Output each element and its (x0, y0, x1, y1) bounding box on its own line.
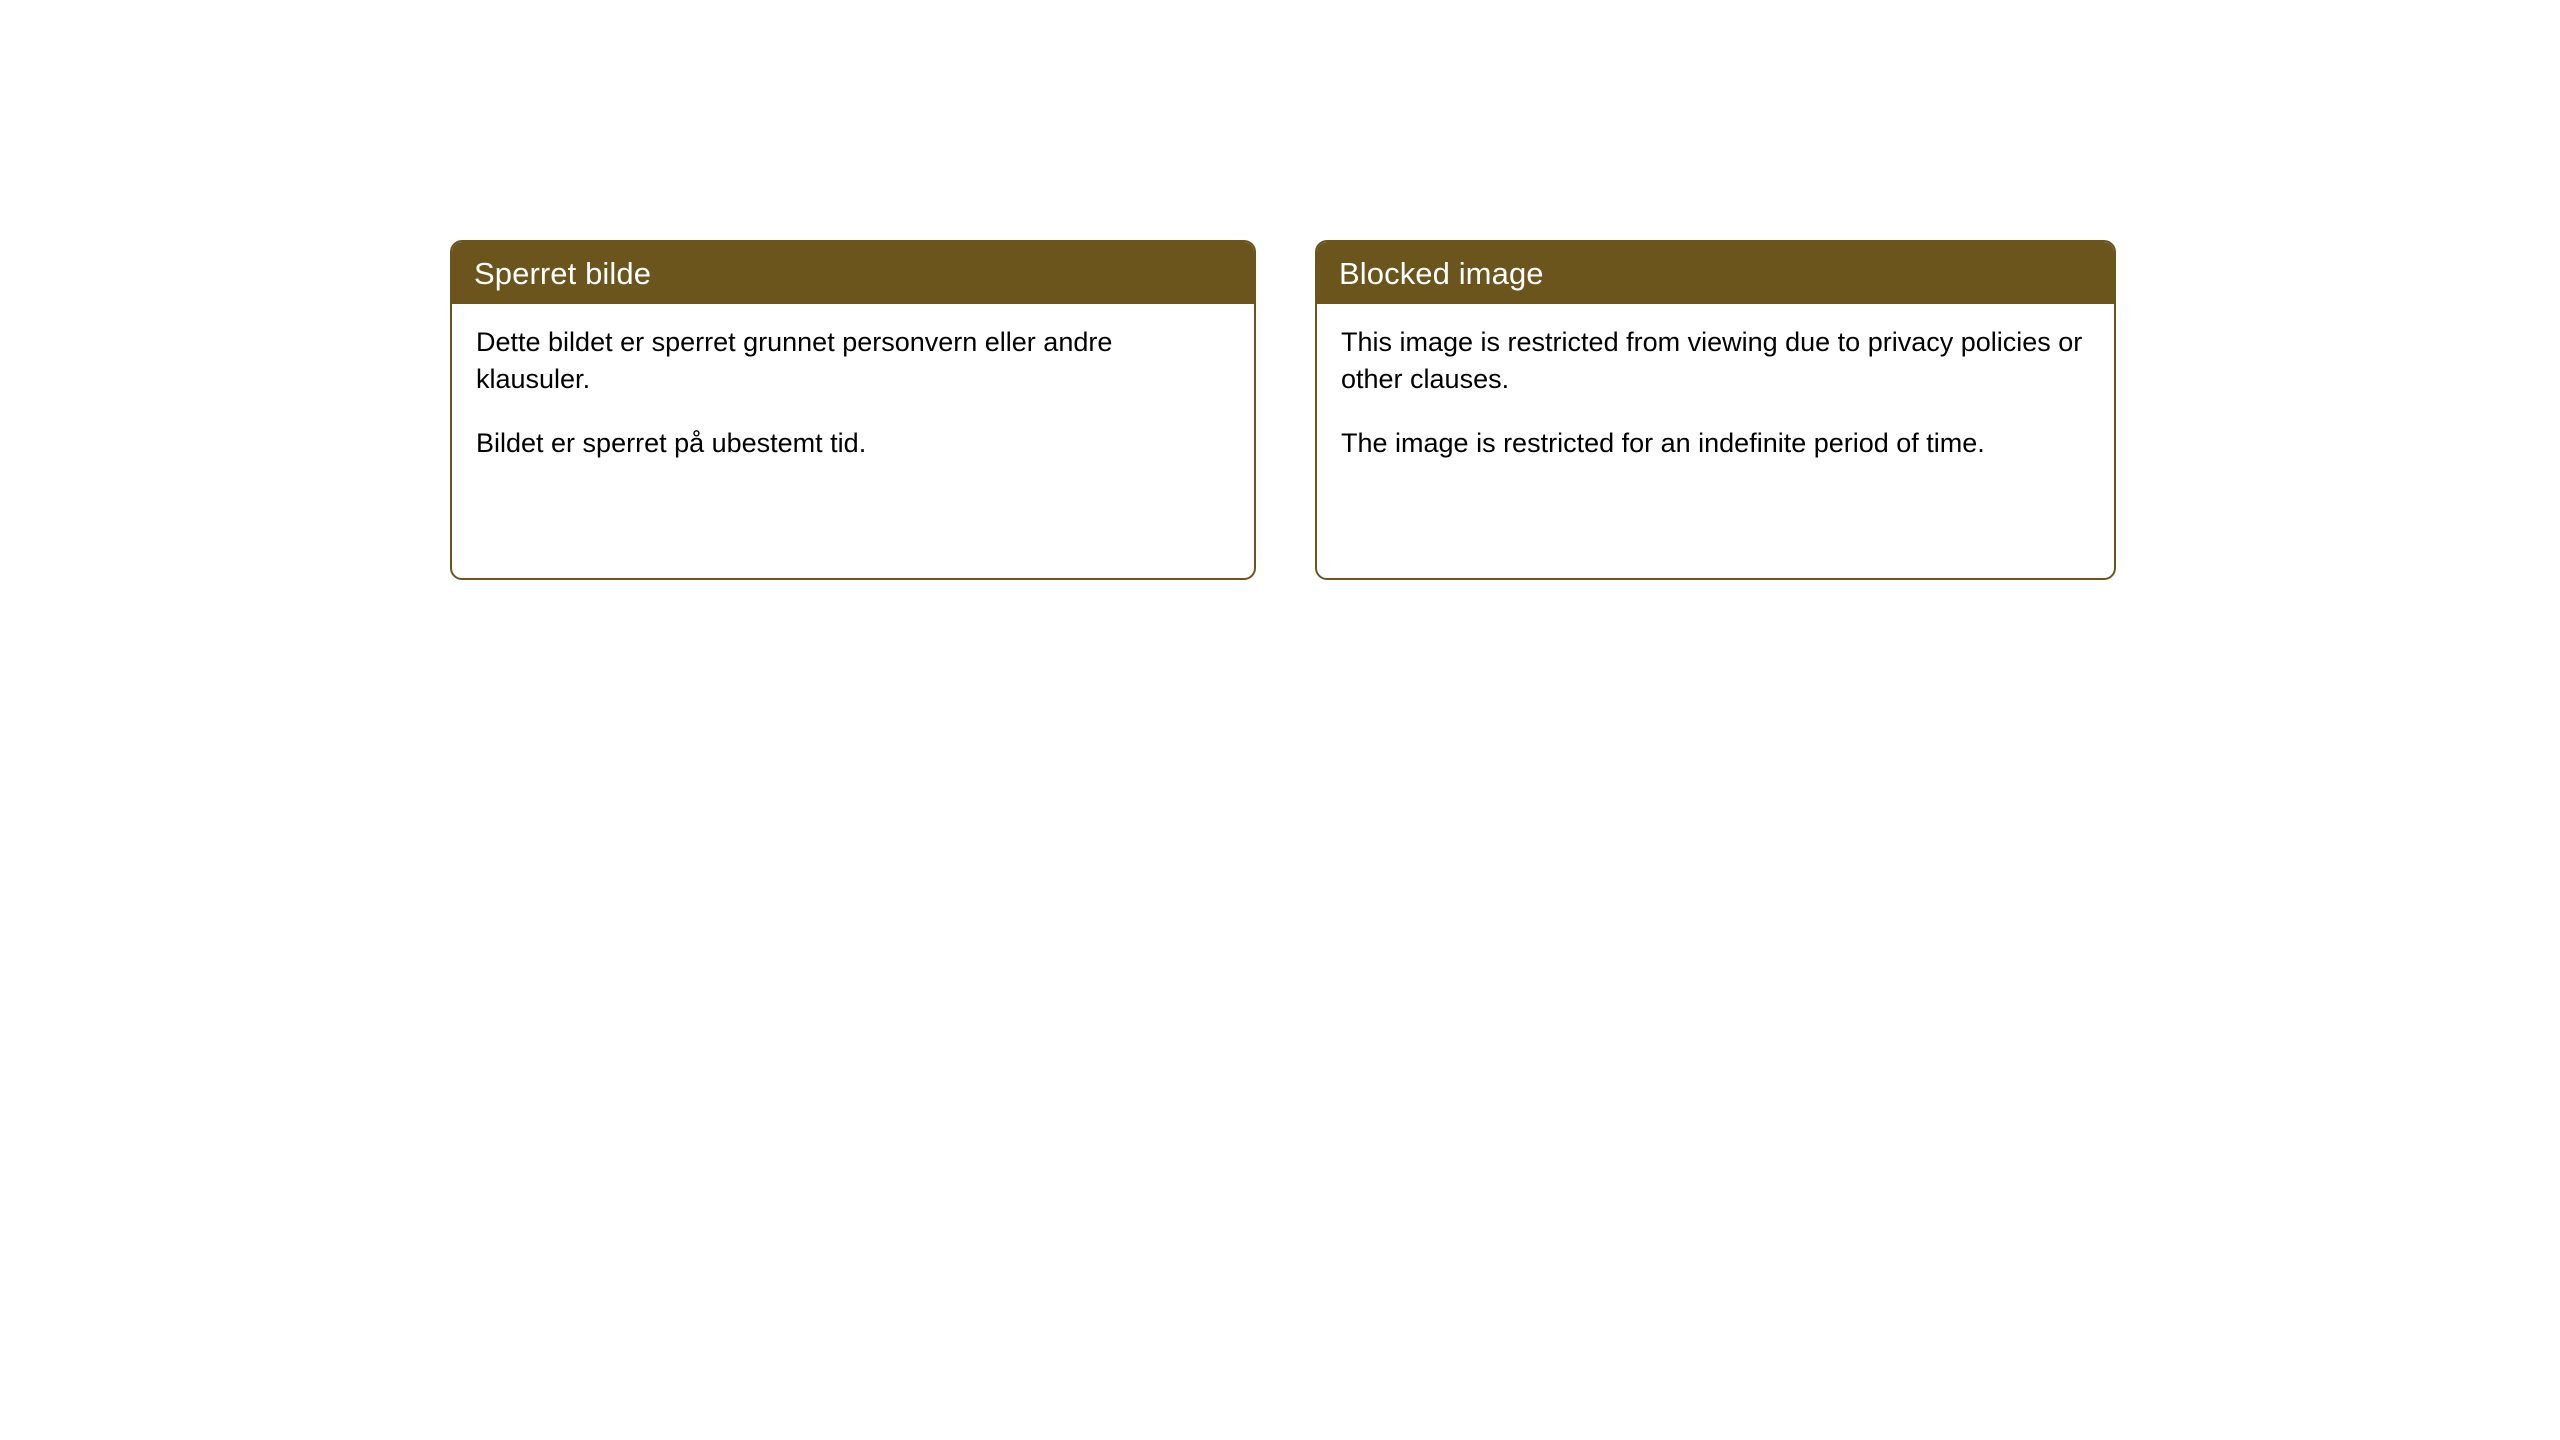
panel-paragraph-reason-english: This image is restricted from viewing du… (1341, 324, 2090, 398)
panel-body-norwegian: Dette bildet er sperret grunnet personve… (452, 304, 1254, 462)
panel-title-norwegian: Sperret bilde (474, 258, 651, 289)
paragraph-spacer (1341, 398, 2090, 425)
paragraph-spacer (476, 398, 1230, 425)
page-canvas: Sperret bilde Dette bildet er sperret gr… (0, 0, 2560, 1440)
panel-header-norwegian: Sperret bilde (452, 242, 1254, 304)
panel-body-english: This image is restricted from viewing du… (1317, 304, 2114, 462)
panel-title-english: Blocked image (1339, 258, 1544, 289)
blocked-image-notice-norwegian: Sperret bilde Dette bildet er sperret gr… (450, 240, 1256, 580)
panel-paragraph-duration-norwegian: Bildet er sperret på ubestemt tid. (476, 425, 1230, 462)
blocked-image-notice-english: Blocked image This image is restricted f… (1315, 240, 2116, 580)
panel-paragraph-reason-norwegian: Dette bildet er sperret grunnet personve… (476, 324, 1230, 398)
panel-header-english: Blocked image (1317, 242, 2114, 304)
panel-paragraph-duration-english: The image is restricted for an indefinit… (1341, 425, 2090, 462)
